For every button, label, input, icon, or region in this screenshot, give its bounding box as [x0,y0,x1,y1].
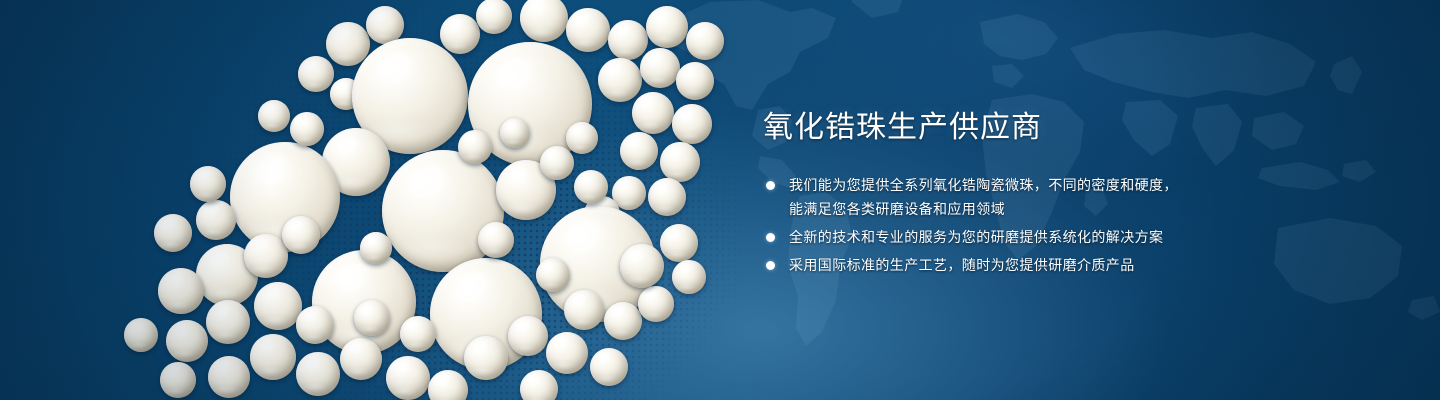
bullet-dot-icon [766,181,775,190]
list-item: 全新的技术和专业的服务为您的研磨提供系统化的解决方案 [763,225,1233,249]
page-title: 氧化锆珠生产供应商 [763,108,1233,148]
bullet-dot-icon [766,233,775,242]
bullet-text-line: 我们能为您提供全系列氧化锆陶瓷微珠，不同的密度和硬度， [789,173,1233,197]
feature-bullet-list: 我们能为您提供全系列氧化锆陶瓷微珠，不同的密度和硬度， 能满足您各类研磨设备和应… [763,173,1233,277]
bullet-dot-icon [766,261,775,270]
list-item: 采用国际标准的生产工艺，随时为您提供研磨介质产品 [763,253,1233,277]
banner-copy: 氧化锆珠生产供应商 我们能为您提供全系列氧化锆陶瓷微珠，不同的密度和硬度， 能满… [763,108,1233,281]
bullet-text-line: 能满足您各类研磨设备和应用领域 [789,197,1233,221]
bullet-text-line: 采用国际标准的生产工艺，随时为您提供研磨介质产品 [789,253,1233,277]
list-item: 我们能为您提供全系列氧化锆陶瓷微珠，不同的密度和硬度， 能满足您各类研磨设备和应… [763,173,1233,221]
bullet-text-line: 全新的技术和专业的服务为您的研磨提供系统化的解决方案 [789,225,1233,249]
hero-banner: 氧化锆珠生产供应商 我们能为您提供全系列氧化锆陶瓷微珠，不同的密度和硬度， 能满… [0,0,1440,400]
